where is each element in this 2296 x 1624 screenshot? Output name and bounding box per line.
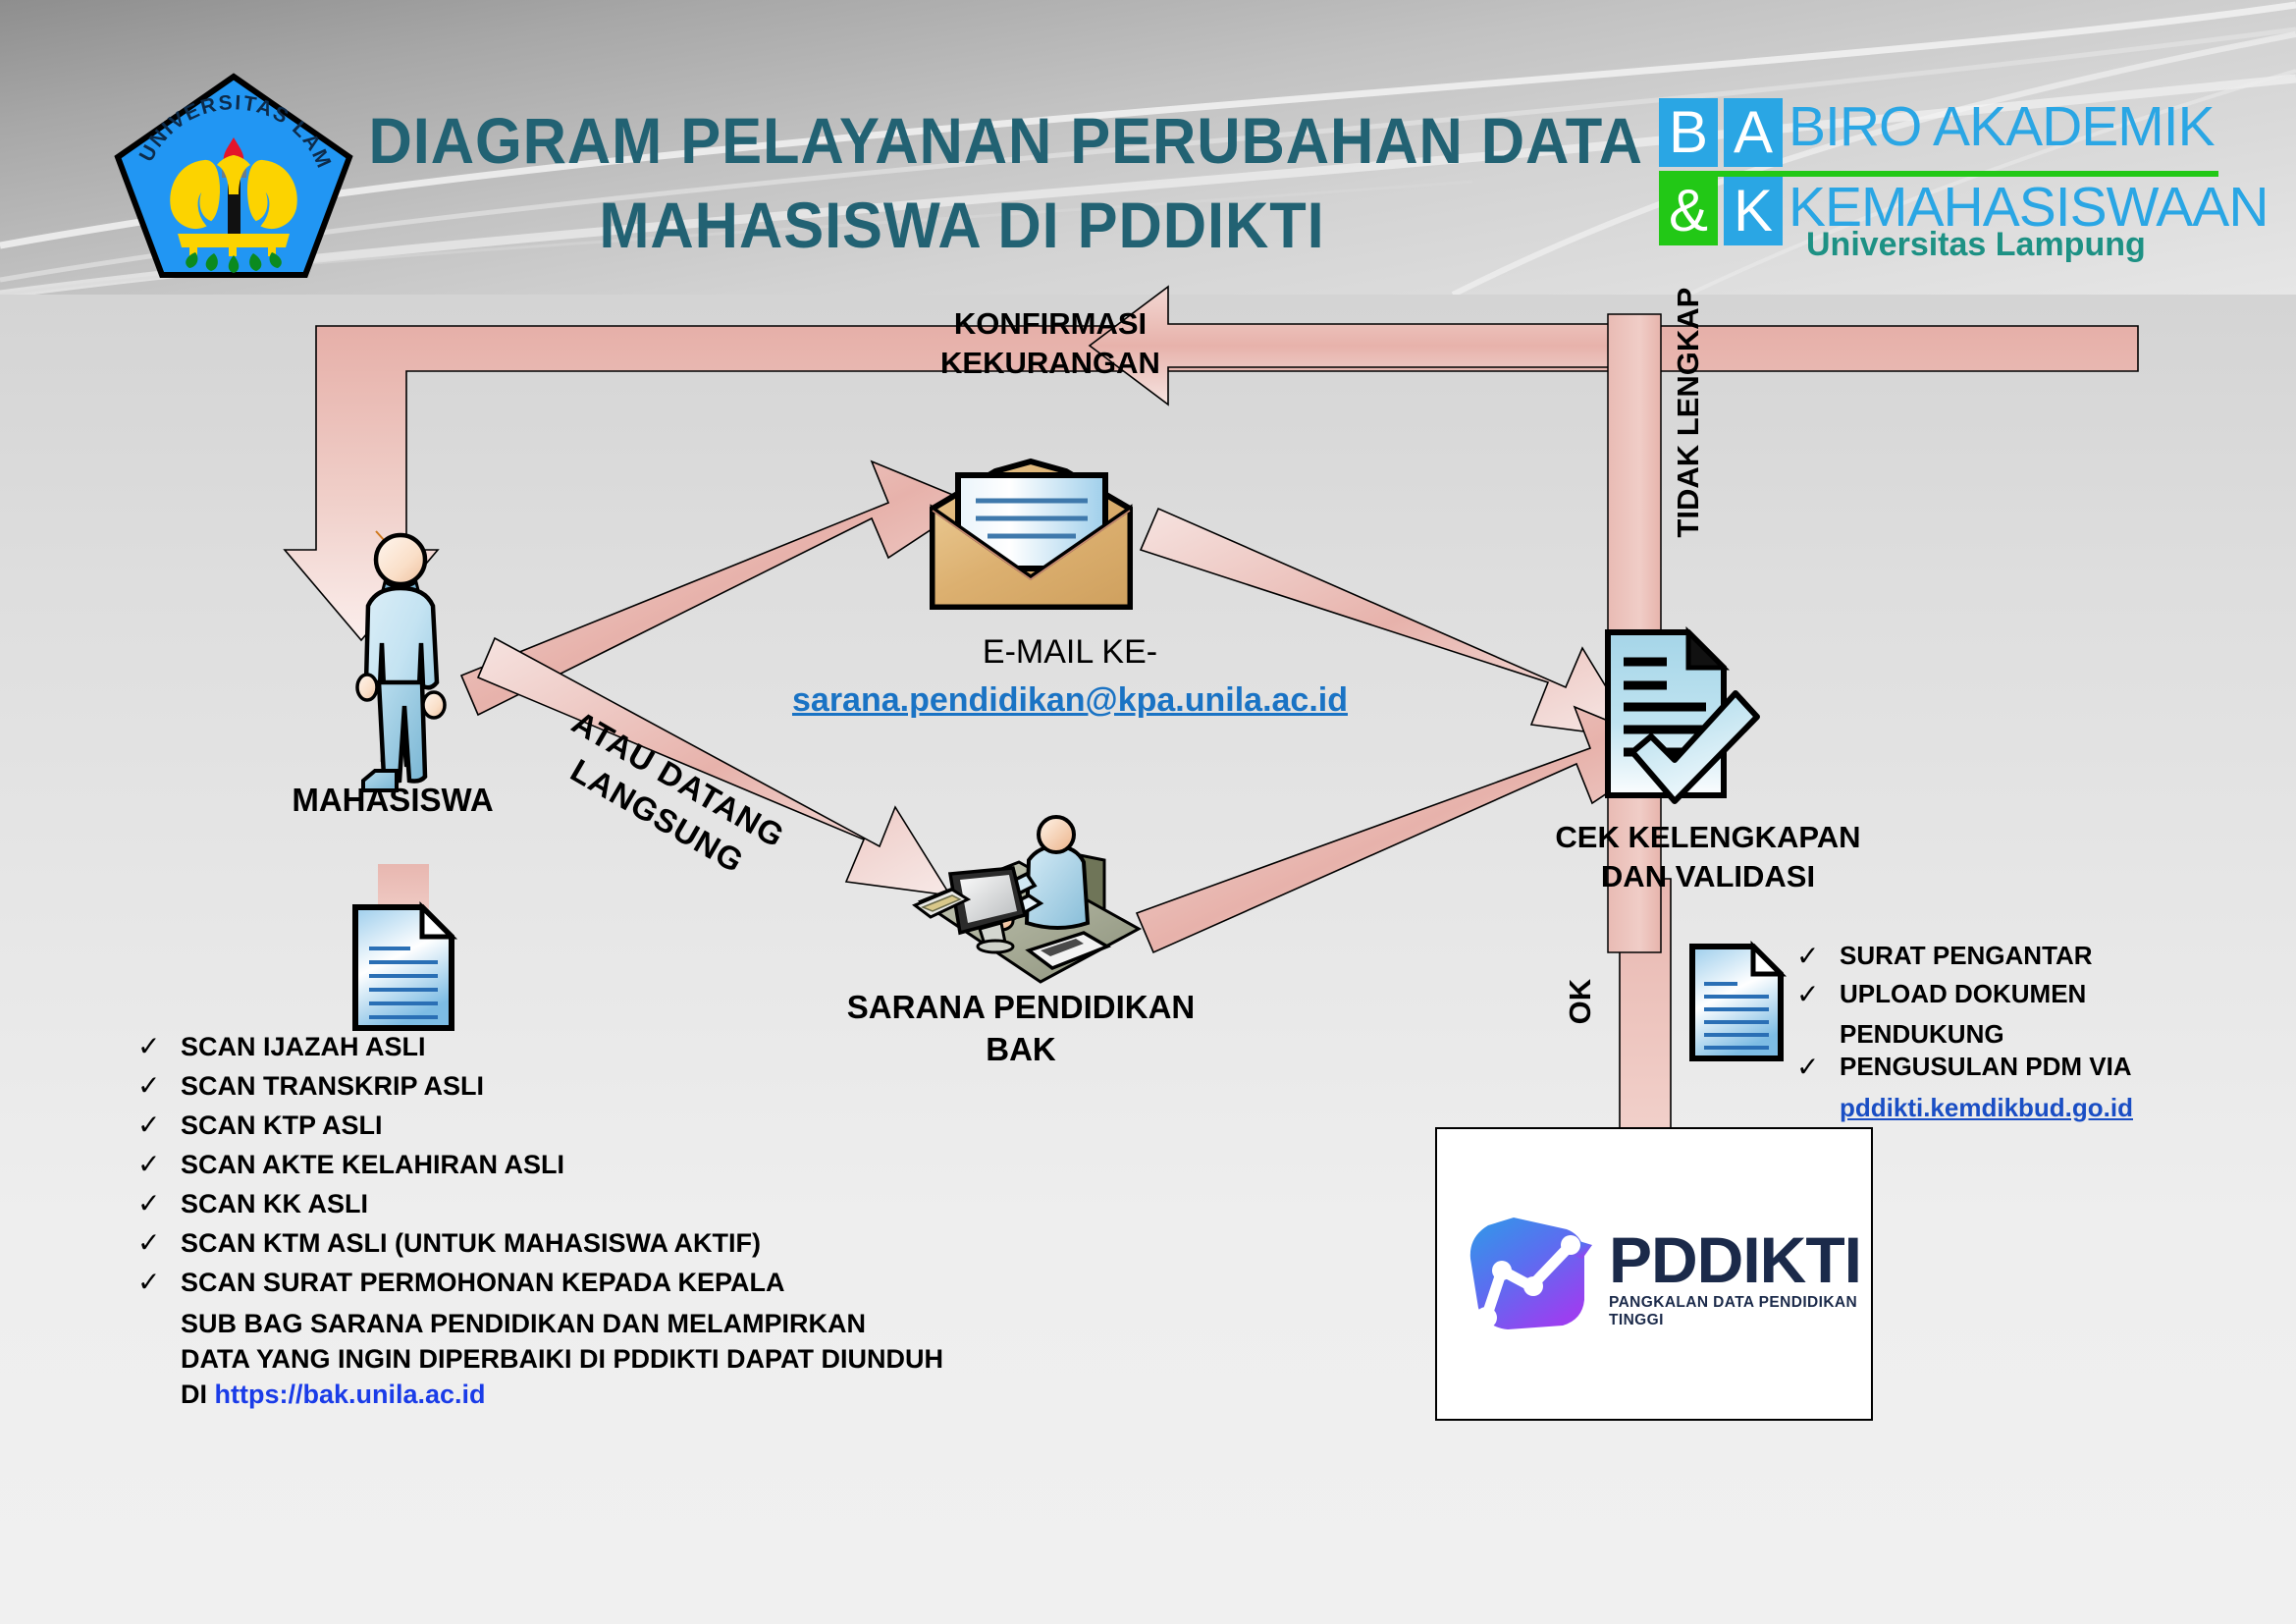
checklist-item: ✓ SURAT PENGANTAR (1796, 941, 2209, 972)
checklist-item-label: SCAN KTP ASLI (181, 1110, 383, 1142)
checklist-item: ✓ SCAN KTM ASLI (UNTUK MAHASISWA AKTIF) (137, 1227, 1021, 1260)
checklist-item: ✓ SCAN AKTE KELAHIRAN ASLI (137, 1149, 1021, 1181)
check-icon: ✓ (1796, 941, 1840, 972)
email-envelope-icon (931, 460, 1132, 617)
pddikti-logo: PDDIKTI PANGKALAN DATA PENDIDIKAN TINGGI (1457, 1210, 1859, 1337)
check-icon: ✓ (137, 1110, 181, 1141)
checklist-item-label: SCAN TRANSKRIP ASLI (181, 1070, 484, 1103)
email-address-link[interactable]: sarana.pendidikan@kpa.unila.ac.id (687, 681, 1453, 720)
pddikti-logo-card: PDDIKTI PANGKALAN DATA PENDIDIKAN TINGGI (1435, 1127, 1873, 1421)
checklist-continuation-line2: DATA YANG INGIN DIPERBAIKI DI PDDIKTI DA… (181, 1341, 1021, 1377)
label-email-ke: E-MAIL KE- (795, 633, 1345, 672)
mahasiswa-person-icon (334, 525, 520, 790)
checklist-item-label: SCAN IJAZAH ASLI (181, 1031, 426, 1063)
checklist-item: ✓ SCAN KK ASLI (137, 1188, 1021, 1220)
pddikti-website-link-wrapper: pddikti.kemdikbud.go.id (1840, 1091, 2209, 1125)
label-mahasiswa: MAHASISWA (236, 780, 550, 822)
pddikti-website-link[interactable]: pddikti.kemdikbud.go.id (1840, 1093, 2133, 1122)
check-icon: ✓ (1796, 1052, 1840, 1083)
checklist-item: ✓ SCAN TRANSKRIP ASLI (137, 1070, 1021, 1103)
check-icon: ✓ (137, 1227, 181, 1259)
label-cek-kelengkapan-validasi: CEK KELENGKAPAN DAN VALIDASI (1512, 818, 1904, 897)
checklist-item-label: SCAN KK ASLI (181, 1188, 368, 1220)
checklist-item: ✓ SCAN IJAZAH ASLI (137, 1031, 1021, 1063)
check-icon: ✓ (137, 1188, 181, 1219)
label-konfirmasi-kekurangan: KONFIRMASI KEKURANGAN (883, 304, 1217, 384)
validation-checklist: ✓ SURAT PENGANTAR ✓ UPLOAD DOKUMEN PENDU… (1796, 941, 2209, 1125)
documents-checklist: ✓ SCAN IJAZAH ASLI ✓ SCAN TRANSKRIP ASLI… (137, 1031, 1021, 1413)
checklist-item-label: UPLOAD DOKUMEN (1840, 979, 2086, 1010)
checklist-item-label: SCAN KTM ASLI (UNTUK MAHASISWA AKTIF) (181, 1227, 761, 1260)
pddikti-tagline: PANGKALAN DATA PENDIDIKAN TINGGI (1609, 1294, 1861, 1329)
checklist-item-label: SCAN SURAT PERMOHONAN KEPADA KEPALA (181, 1267, 785, 1299)
pddikti-hexagon-icon (1457, 1210, 1614, 1337)
check-icon: ✓ (137, 1031, 181, 1062)
checklist-item-label: SCAN AKTE KELAHIRAN ASLI (181, 1149, 564, 1181)
dokumen-validasi-icon (1686, 941, 1785, 1063)
checklist-item: ✓ PENGUSULAN PDM VIA (1796, 1052, 2209, 1083)
checklist-continuation-line3: DI https://bak.unila.ac.id (181, 1377, 1021, 1412)
diagram-canvas: UNIVERSITAS LAMPUNG DIAGRAM PELAYA (0, 0, 2296, 1624)
dokumen-mahasiswa-icon (349, 901, 457, 1034)
checklist-item-continuation: PENDUKUNG (1840, 1017, 2209, 1052)
check-icon: ✓ (137, 1267, 181, 1298)
pddikti-wordmark: PDDIKTI (1609, 1227, 1861, 1292)
checklist-item: ✓ SCAN SURAT PERMOHONAN KEPADA KEPALA (137, 1267, 1021, 1299)
checklist-item-label: SURAT PENGANTAR (1840, 941, 2093, 972)
check-icon: ✓ (137, 1070, 181, 1102)
checklist-continuation-line1: SUB BAG SARANA PENDIDIKAN DAN MELAMPIRKA… (181, 1306, 1021, 1341)
pddikti-wordmark-group: PDDIKTI PANGKALAN DATA PENDIDIKAN TINGGI (1609, 1227, 1861, 1329)
sarana-desk-worker-icon (903, 813, 1158, 985)
bak-website-link[interactable]: https://bak.unila.ac.id (215, 1380, 486, 1409)
cek-validasi-document-check-icon (1580, 628, 1777, 825)
checklist-item: ✓ SCAN KTP ASLI (137, 1110, 1021, 1142)
label-tidak-lengkap: TIDAK LENGKAP (1669, 255, 1708, 569)
label-ok: OK (1561, 952, 1600, 1051)
check-icon: ✓ (1796, 979, 1840, 1010)
checklist-continuation-prefix: DI (181, 1380, 215, 1409)
check-icon: ✓ (137, 1149, 181, 1180)
checklist-item: ✓ UPLOAD DOKUMEN (1796, 979, 2209, 1010)
checklist-item-label: PENGUSULAN PDM VIA (1840, 1052, 2132, 1083)
